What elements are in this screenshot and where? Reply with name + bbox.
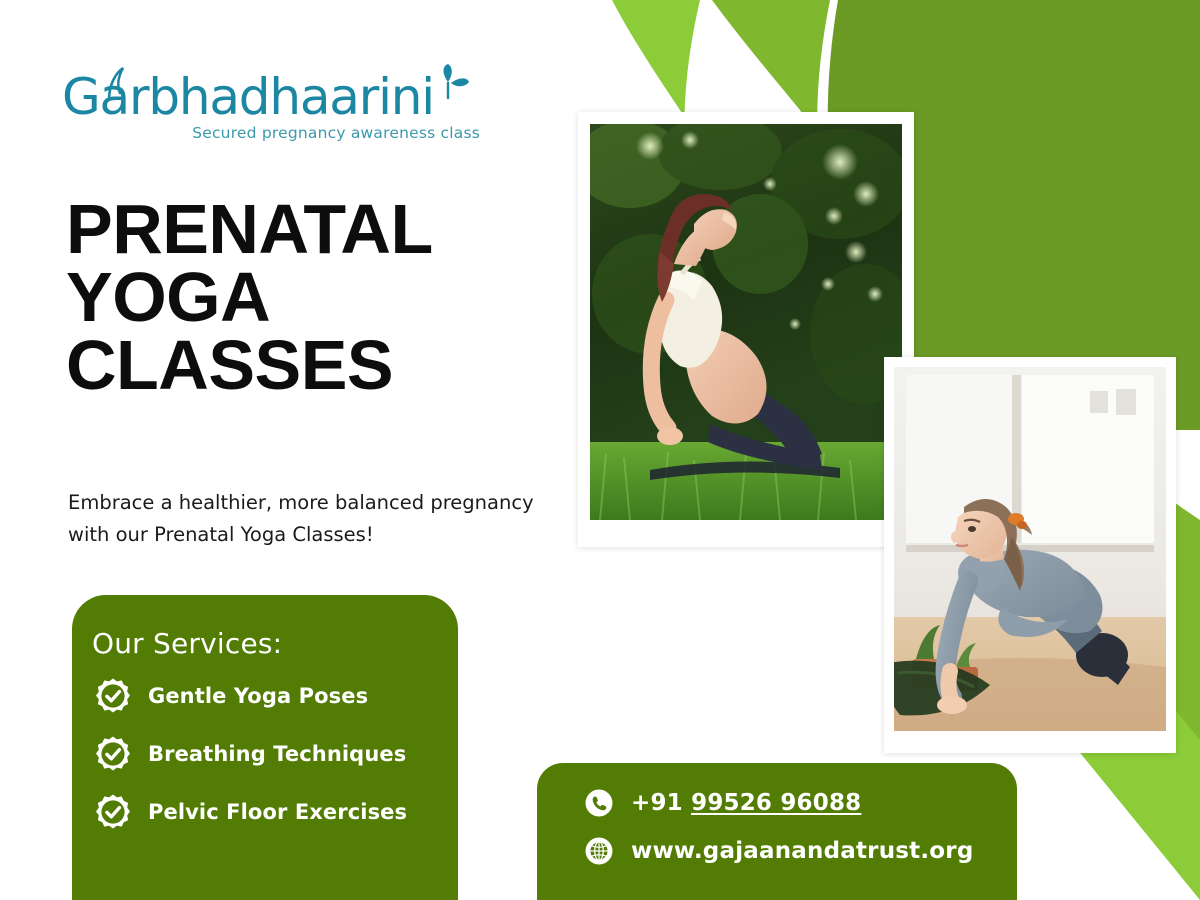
check-badge-icon (94, 793, 132, 831)
page-title: PRENATAL YOGA CLASSES (66, 196, 526, 400)
pregnant-woman-indoor-yoga-photo (884, 357, 1176, 753)
contact-website-row[interactable]: www.gajaanandatrust.org (585, 833, 1017, 869)
headline-line-3: CLASSES (66, 332, 526, 400)
headline-line-1: PRENATAL (66, 196, 526, 264)
contact-phone-row[interactable]: +91 99526 96088 (585, 785, 1017, 821)
website-text: www.gajaanandatrust.org (631, 838, 974, 864)
service-label: Gentle Yoga Poses (148, 684, 368, 708)
services-card: Our Services: Gentle Yoga Poses Breathin… (72, 595, 458, 900)
service-label: Pelvic Floor Exercises (148, 800, 407, 824)
sprout-leaf-icon (444, 64, 470, 98)
brand-logo: Garbhadhaarini Secured pregnancy awarene… (62, 64, 482, 136)
contact-card: +91 99526 96088 www.gajaanandatrust.org (537, 763, 1017, 900)
globe-icon (585, 837, 613, 865)
headline-line-2: YOGA (66, 264, 526, 332)
pregnant-woman-outdoor-yoga-photo (578, 112, 914, 547)
check-badge-icon (94, 735, 132, 773)
subtitle-text: Embrace a healthier, more balanced pregn… (68, 487, 568, 550)
service-item-gentle-yoga-poses: Gentle Yoga Poses (94, 674, 458, 718)
phone-country-code: +91 (631, 790, 683, 816)
service-label: Breathing Techniques (148, 742, 406, 766)
phone-number-text: +91 99526 96088 (631, 790, 861, 816)
phone-icon (585, 789, 613, 817)
svg-text:Garbhadhaarini: Garbhadhaarini (62, 68, 434, 126)
phone-number-digits: 99526 96088 (691, 790, 861, 816)
photo-1-image (590, 124, 902, 520)
photo-2-image (894, 367, 1166, 731)
check-badge-icon (94, 677, 132, 715)
service-item-pelvic-floor-exercises: Pelvic Floor Exercises (94, 790, 458, 834)
services-title: Our Services: (92, 627, 458, 660)
poster-canvas: Garbhadhaarini Secured pregnancy awarene… (0, 0, 1200, 900)
service-item-breathing-techniques: Breathing Techniques (94, 732, 458, 776)
logo-tagline: Secured pregnancy awareness class (192, 124, 480, 142)
